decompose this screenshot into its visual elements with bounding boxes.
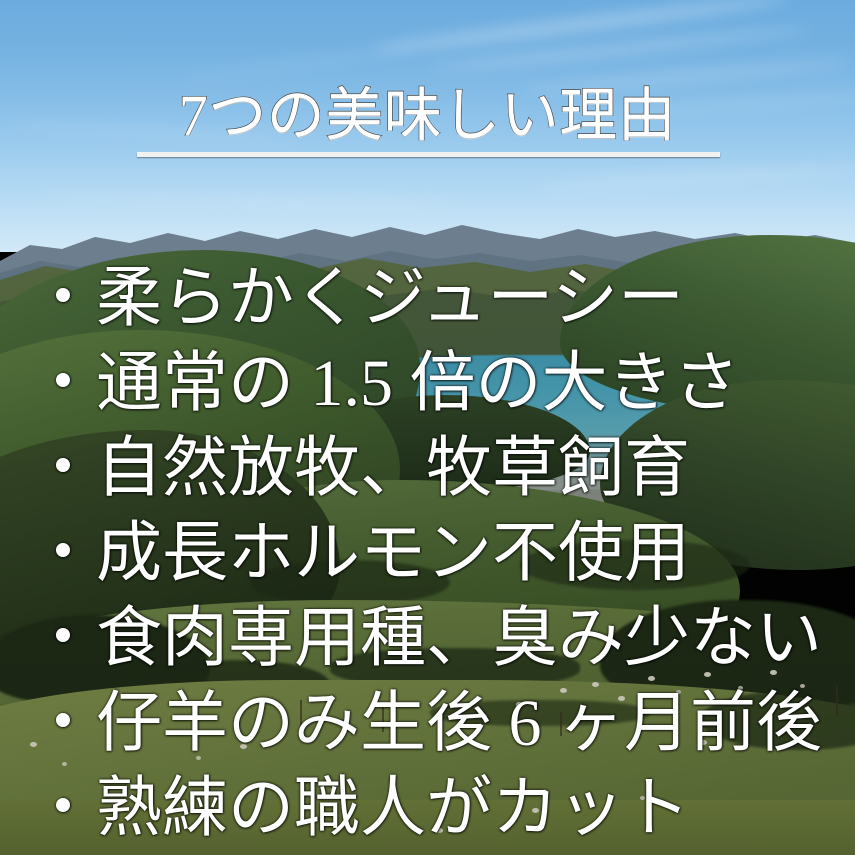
- list-item-label: 通常の 1.5 倍の大きさ: [96, 341, 740, 426]
- bullet-dot-icon: ・: [30, 681, 96, 766]
- bullet-dot-icon: ・: [30, 341, 96, 426]
- bullet-dot-icon: ・: [30, 766, 96, 851]
- list-item-label: 仔羊のみ生後 6 ヶ月前後: [96, 681, 822, 766]
- list-item: ・ 自然放牧、牧草飼育: [30, 426, 855, 511]
- list-item: ・ 柔らかくジューシー: [30, 256, 855, 341]
- list-item: ・ 仔羊のみ生後 6 ヶ月前後: [30, 681, 855, 766]
- bullet-dot-icon: ・: [30, 256, 96, 341]
- page-title: 7つの美味しい理由: [0, 86, 855, 147]
- list-item-label: 柔らかくジューシー: [96, 256, 684, 341]
- reasons-list: ・ 柔らかくジューシー ・ 通常の 1.5 倍の大きさ ・ 自然放牧、牧草飼育 …: [30, 256, 855, 851]
- list-item-label: 自然放牧、牧草飼育: [96, 426, 690, 511]
- list-item: ・ 成長ホルモン不使用: [30, 511, 855, 596]
- list-item: ・ 熟練の職人がカット: [30, 766, 855, 851]
- list-item: ・ 通常の 1.5 倍の大きさ: [30, 341, 855, 426]
- bullet-dot-icon: ・: [30, 426, 96, 511]
- promo-poster: 7つの美味しい理由 ・ 柔らかくジューシー ・ 通常の 1.5 倍の大きさ ・ …: [0, 0, 855, 855]
- title-underline: [137, 152, 720, 157]
- list-item-label: 熟練の職人がカット: [96, 766, 690, 851]
- list-item-label: 成長ホルモン不使用: [96, 511, 690, 596]
- list-item-label: 食肉専用種、臭み少ない: [96, 596, 822, 681]
- list-item: ・ 食肉専用種、臭み少ない: [30, 596, 855, 681]
- bullet-dot-icon: ・: [30, 511, 96, 596]
- bullet-dot-icon: ・: [30, 596, 96, 681]
- text-overlay: 7つの美味しい理由 ・ 柔らかくジューシー ・ 通常の 1.5 倍の大きさ ・ …: [0, 0, 855, 855]
